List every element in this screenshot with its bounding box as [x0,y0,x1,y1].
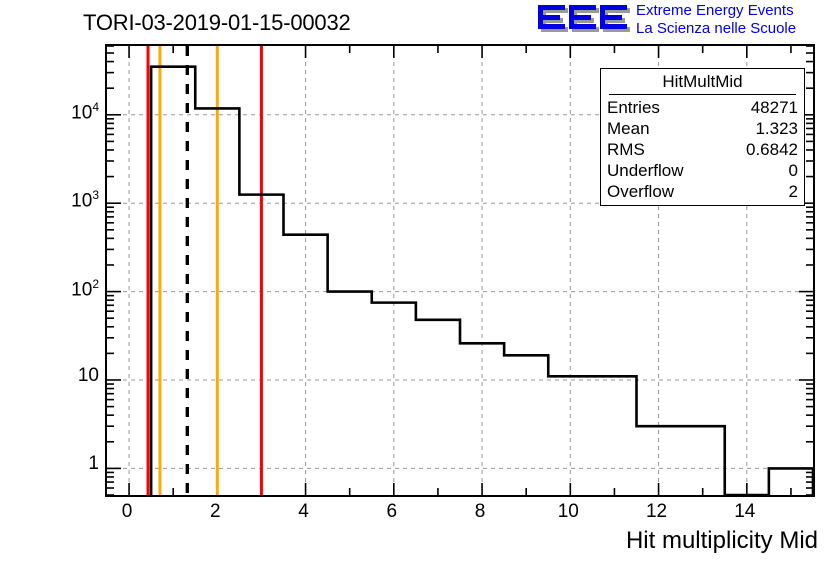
stats-row-key: Underflow [607,160,684,181]
marker-lines [148,46,261,495]
x-tick-label: 8 [460,501,500,523]
x-axis-title: Hit multiplicity Mid [626,527,818,555]
x-tick-label: 0 [107,501,147,523]
stats-row-key: Mean [607,118,650,139]
stats-row-key: Overflow [607,181,674,202]
y-tick-label: 104 [39,100,99,124]
y-tick-label: 1 [39,453,99,475]
eee-logo: Extreme Energy Events La Scienza nelle S… [536,2,832,40]
stats-row-value: 48271 [751,97,798,118]
stats-row-value: 0 [789,160,798,181]
stats-box: HitMultMid Entries48271Mean1.323RMS0.684… [600,68,805,206]
stats-row-value: 2 [789,181,798,202]
histogram-canvas: TORI-03-2019-01-15-00032 Extreme Ene [0,0,836,572]
stats-row: Mean1.323 [607,118,798,139]
y-tick-label: 103 [39,188,99,212]
stats-row: Underflow0 [607,160,798,181]
eee-logo-line2: La Scienza nelle Scuole [636,20,796,38]
stats-row-key: Entries [607,97,660,118]
page-title: TORI-03-2019-01-15-00032 [83,10,351,36]
stats-row: Overflow2 [607,181,798,202]
stats-row: Entries48271 [607,97,798,118]
eee-logo-line1: Extreme Energy Events [636,2,796,20]
x-tick-label: 12 [637,501,677,523]
eee-logo-text: Extreme Energy Events La Scienza nelle S… [636,2,796,38]
stats-row-key: RMS [607,139,645,160]
y-tick-label: 102 [39,277,99,301]
y-tick-label: 10 [39,365,99,387]
stats-row: RMS0.6842 [607,139,798,160]
eee-logo-mark [536,3,632,37]
x-tick-label: 6 [372,501,412,523]
x-tick-label: 10 [548,501,588,523]
x-tick-label: 4 [284,501,324,523]
x-tick-label: 2 [195,501,235,523]
stats-row-value: 0.6842 [746,139,798,160]
stats-row-value: 1.323 [755,118,798,139]
stats-rows: Entries48271Mean1.323RMS0.6842Underflow0… [607,97,798,202]
stats-title: HitMultMid [609,71,796,95]
x-tick-label: 14 [725,501,765,523]
